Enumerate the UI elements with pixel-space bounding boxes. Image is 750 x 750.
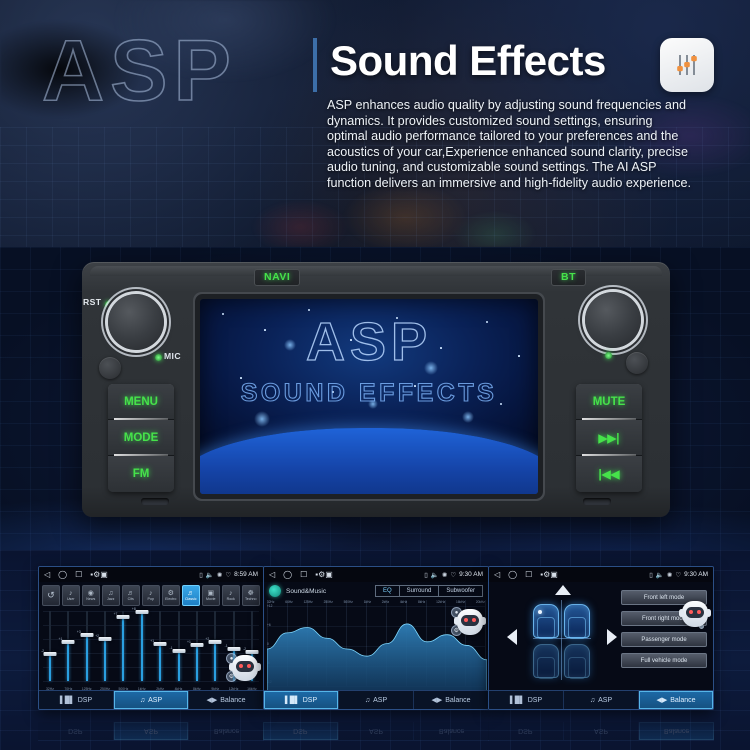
tab-label: ASP [148,697,162,704]
tab-dsp[interactable]: ▌█▌ DSP [264,691,339,709]
chart-x-tick-labels: 32Hz64Hz125Hz250Hz500Hz1kHz2kHz4kHz8kHz1… [267,600,485,604]
reflection-tab: DSP [38,722,114,740]
robot-ear-left [454,617,459,625]
left-small-button[interactable] [99,357,121,379]
robot-ear-right [256,663,261,671]
eq-band-32Hz[interactable]: -232Hz [43,609,57,693]
equalizer-sliders-icon [660,38,714,92]
eq-thumb[interactable] [80,633,93,637]
arrow-right-icon[interactable] [607,629,617,645]
eq-preset-movie[interactable]: ▣ Movie [202,585,221,606]
chart-x-tick: 12kHz [436,600,445,604]
eq-band-9kHz[interactable]: +29kHz [208,609,222,693]
eq-band-125Hz[interactable]: +3125Hz [80,609,94,693]
eq-band-250Hz[interactable]: +2250Hz [98,609,112,693]
eq-preset-news[interactable]: ◉ News [82,585,101,606]
seat-rear-left[interactable] [533,644,559,678]
balance-icon: ◀▶ [206,696,217,704]
eq-band-value: +2 [205,637,209,641]
reflection-tab: DSP [263,722,339,740]
panel-seat-modes[interactable]: ◁ ◯ ☐ ▪⚙▣ ▯ 🔈 ✺ ♡ 9:30 AM [488,566,714,710]
arrow-left-icon[interactable] [507,629,517,645]
reflection-tabs: DSP ASP Balance [38,722,264,741]
previous-track-button[interactable]: |◀◀ [576,456,642,492]
preset-icon: ♪ [229,590,233,597]
assistant-robot-icon[interactable] [682,601,708,627]
panel-equalizer[interactable]: ◁ ◯ ☐ ▪⚙▣ ▯ 🔈 ✺ ♡ 8:59 AM ↺ ♪ User ◉ New… [38,566,264,710]
chart-x-tick: 125Hz [304,600,313,604]
head-unit-screen[interactable]: ASP SOUND EFFECTS [200,299,538,494]
eq-preset-pop[interactable]: ♪ Pop [142,585,161,606]
bluetooth-icon: ✺ [217,571,222,579]
chart-x-tick: 250Hz [324,600,333,604]
eq-band-1kHz[interactable]: +81kHz [135,609,149,693]
tab-dsp[interactable]: ▌█▌ DSP [39,691,114,709]
eq-band-value: -1 [225,644,228,648]
right-led-icon [605,352,612,359]
ui-screenshot-strip: ◁ ◯ ☐ ▪⚙▣ ▯ 🔈 ✺ ♡ 8:59 AM ↺ ♪ User ◉ New… [0,550,750,750]
eq-preset-techno[interactable]: ☸ Techno [242,585,261,606]
next-track-button[interactable]: ▶▶| [576,420,642,456]
preset-icon: ♪ [69,590,73,597]
battery-icon: ▯ [424,571,428,579]
tab-balance[interactable]: ◀▶ Balance [639,691,713,709]
reflection-tab: ASP [114,722,190,740]
back-icon[interactable]: ◁ [494,571,500,579]
recents-icon[interactable]: ☐ [525,571,532,579]
preset-label: Jazz [107,598,114,602]
preset-icon: ♪ [149,590,153,597]
seat-front-right[interactable] [564,604,590,638]
tab-label: ASP [598,697,612,704]
segment-surround[interactable]: Surround [399,585,439,597]
right-small-button[interactable] [626,352,648,374]
volume-icon: 🔈 [206,571,214,579]
right-vent-slot [583,498,611,505]
eq-thumb[interactable] [190,643,203,647]
eq-band-4kHz[interactable]: -14kHz [172,609,186,693]
eq-fill [104,639,106,681]
panel-tab-bar[interactable]: ▌█▌ DSP ♫ ASP ◀▶ Balance [264,690,488,709]
reflection-tab: DSP [488,722,564,740]
right-button-stack: MUTE ▶▶| |◀◀ [576,384,642,492]
mode-full-vehicle[interactable]: Full vehicle mode [621,653,707,668]
segment-eq[interactable]: EQ [375,585,399,597]
asp-icon: ♫ [140,697,145,704]
panel-waveform[interactable]: ◁ ◯ ☐ ▪⚙▣ ▯ 🔈 ✺ ♡ 9:30 AM Sound&Music EQ… [263,566,489,710]
location-icon: ♡ [450,571,456,579]
eq-preset-cits[interactable]: ♬ Cits [122,585,141,606]
chart-x-tick: 16kHz [456,600,465,604]
android-status-bar: ◁ ◯ ☐ ▪⚙▣ ▯ 🔈 ✺ ♡ 9:30 AM [264,567,488,582]
dsp-icon: ▌█▌ [60,697,75,704]
rst-label: RST [83,297,101,307]
app-header: Sound&Music EQ Surround Subwoofer [264,582,488,600]
eq-band-value: +2 [95,634,99,638]
volume-icon: 🔈 [656,571,664,579]
eq-band-value: +3 [77,630,81,634]
focus-point-indicator [538,610,542,614]
eq-fill [141,612,143,681]
mode-passenger[interactable]: Passenger mode [621,632,707,647]
mic-label: MIC [164,351,181,361]
panel-tab-bar[interactable]: ▌█▌ DSP ♫ ASP ◀▶ Balance [39,690,263,709]
reflection-tab: ASP [339,722,415,740]
seat-rear-right[interactable] [564,644,590,678]
dsp-icon: ▌█▌ [285,697,300,704]
eq-band-value: -1 [170,646,173,650]
eq-preset-classic[interactable]: ♬ Classic [182,585,201,606]
page-title: Sound Effects [330,37,606,85]
battery-icon: ▯ [199,571,203,579]
eq-preset-rock[interactable]: ♪ Rock [222,585,241,606]
panel-equalizer-reflection: DSP ASP Balance [38,711,264,741]
page-description: ASP enhances audio quality by adjusting … [327,98,693,192]
eq-band-70Hz[interactable]: +170Hz [61,609,75,693]
eq-thumb[interactable] [154,642,167,646]
preset-icon: ▣ [207,590,214,597]
chart-x-tick: 1kHz [364,600,371,604]
eq-band-value: -2 [243,647,246,651]
eq-band-value: +1 [58,637,62,641]
reflection-tabs: DSP ASP Balance [488,722,714,741]
preset-label: User [67,598,75,602]
asp-icon: ♫ [365,697,370,704]
tab-asp[interactable]: ♫ ASP [339,691,414,709]
seat-axis-vertical [561,600,562,680]
status-time: 9:30 AM [684,571,708,578]
chart-x-tick: 500Hz [344,600,353,604]
eq-band-value: -2 [41,649,44,653]
menu-button[interactable]: MENU [108,384,174,420]
preset-label: Electro [165,598,176,602]
eq-thumb[interactable] [99,637,112,641]
preset-icon: ♬ [187,590,194,597]
mute-button[interactable]: MUTE [576,384,642,420]
fm-button[interactable]: FM [108,456,174,492]
tab-balance[interactable]: ◀▶ Balance [189,691,263,709]
panel-tab-bar[interactable]: ▌█▌ DSP ♫ ASP ◀▶ Balance [489,690,713,709]
eq-fill [86,635,88,681]
eq-thumb[interactable] [117,615,130,619]
preset-icon: ◉ [88,590,94,597]
eq-preset-jazz[interactable]: ♫ Jazz [102,585,121,606]
left-vent-slot [141,498,169,505]
chart-x-tick: 8kHz [418,600,425,604]
balance-icon: ◀▶ [656,696,667,704]
eq-thumb[interactable] [62,640,75,644]
bluetooth-icon: ✺ [667,571,672,579]
preset-label: Cits [128,598,134,602]
robot-ear-right [706,609,711,617]
eq-fill [49,654,51,681]
location-icon: ♡ [225,571,231,579]
segment-subwoofer[interactable]: Subwoofer [438,585,483,597]
android-status-bar: ◁ ◯ ☐ ▪⚙▣ ▯ 🔈 ✺ ♡ 8:59 AM [39,567,263,582]
car-head-unit: NAVI BT RST MIC MENU MODE FM MUTE ▶▶| |◀… [82,262,670,517]
bluetooth-icon: ✺ [442,571,447,579]
recents-icon[interactable]: ☐ [300,571,307,579]
eq-band-value: +7 [114,612,118,616]
screen-title: ASP [200,315,538,369]
eq-thumb[interactable] [135,610,148,614]
preset-label: News [86,598,95,602]
preset-icon: ☸ [248,590,254,597]
tab-label: Balance [445,697,470,704]
reflection-tabs: DSP ASP Balance [263,722,489,741]
asp-watermark: ASP [42,28,237,114]
hero-banner: ASP Sound Effects ASP enhances audio qua… [0,0,750,247]
panel-seat-modes-reflection: DSP ASP Balance [488,711,714,741]
eq-band-500Hz[interactable]: +7500Hz [116,609,130,693]
eq-preset-user[interactable]: ♪ User [62,585,81,606]
mode-label: Front left mode [644,595,684,601]
eq-thumb[interactable] [209,640,222,644]
preset-icon: ⚙ [168,590,174,597]
eq-fill [122,617,124,681]
robot-ear-left [229,663,234,671]
tab-dsp[interactable]: ▌█▌ DSP [489,691,564,709]
home-icon[interactable]: ◯ [508,571,517,579]
eq-thumb[interactable] [227,647,240,651]
tab-label: DSP [528,697,542,704]
assistant-robot-icon[interactable] [232,655,258,681]
eq-fill [67,642,69,681]
preset-label: Techno [245,598,257,602]
eq-band-value: +8 [132,607,136,611]
app-name: Sound&Music [286,588,326,595]
tab-label: Balance [670,697,695,704]
tab-label: DSP [303,697,317,704]
bt-badge[interactable]: BT [551,269,586,286]
eq-band-2kHz[interactable]: +12kHz [153,609,167,693]
screen-subtitle: SOUND EFFECTS [200,381,538,406]
robot-ear-left [679,609,684,617]
tab-label: DSP [78,697,92,704]
eq-fill [159,644,161,681]
location-icon: ♡ [675,571,681,579]
chart-x-tick: 4kHz [400,600,407,604]
back-icon[interactable]: ◁ [269,571,275,579]
preset-label: Movie [206,598,216,602]
eq-preset-electro[interactable]: ⚙ Electro [162,585,181,606]
eq-preset-row[interactable]: ↺ ♪ User ◉ News ♫ Jazz ♬ Cits ♪ Pop [39,582,263,606]
tab-asp[interactable]: ♫ ASP [564,691,639,709]
preset-label: Pop [148,598,154,602]
eq-fill [178,651,180,681]
chart-x-tick: 20kHz [476,600,485,604]
battery-icon: ▯ [649,571,653,579]
preset-icon: ♬ [127,590,134,597]
eq-band-columns[interactable]: -232Hz+170Hz+3125Hz+2250Hz+7500Hz+81kHz+… [43,609,259,693]
apps-icon[interactable]: ▪⚙▣ [540,571,558,579]
volume-knob-left[interactable] [108,294,164,350]
assistant-robot-icon[interactable] [457,609,483,635]
eq-thumb[interactable] [172,649,185,653]
tune-knob-right[interactable] [585,292,641,348]
app-logo-icon [269,585,281,597]
eq-cycle-button[interactable]: ↺ [42,585,60,606]
screen-wave-front [200,428,538,494]
home-icon[interactable]: ◯ [58,571,67,579]
eq-band-value: +1 [187,640,191,644]
apps-icon[interactable]: ▪⚙▣ [315,571,333,579]
robot-ear-right [481,617,486,625]
mode-label: Full vehicle mode [641,658,688,664]
tab-asp[interactable]: ♫ ASP [114,691,189,709]
seat-front-left[interactable] [533,604,559,638]
panel-waveform-reflection: DSP ASP Balance [263,711,489,741]
mode-label: Passenger mode [641,637,686,643]
arrow-up-icon[interactable] [555,585,571,595]
eq-thumb[interactable] [44,652,57,656]
product-scene: NAVI BT RST MIC MENU MODE FM MUTE ▶▶| |◀… [0,247,750,550]
apps-icon[interactable]: ▪⚙▣ [90,571,108,579]
preset-icon: ♫ [108,590,113,597]
reflection-tab: Balance [639,722,714,740]
volume-icon: 🔈 [431,571,439,579]
mode-button[interactable]: MODE [108,420,174,456]
navi-badge[interactable]: NAVI [254,269,300,286]
recents-icon[interactable]: ☐ [75,571,82,579]
chart-x-tick: 64Hz [285,600,292,604]
reflection-tab: ASP [564,722,640,740]
mic-led-icon [155,354,162,361]
tab-label: Balance [220,697,245,704]
chart-x-tick: 2kHz [382,600,389,604]
eq-band-value: +1 [150,639,154,643]
eq-fill [196,645,198,681]
balance-icon: ◀▶ [431,696,442,704]
seat-selector[interactable]: Front left mode Front right mode Passeng… [489,582,713,692]
sound-mode-segments[interactable]: EQ Surround Subwoofer [375,585,483,597]
reflection-tab: Balance [189,722,264,740]
reflection-tab: Balance [414,722,489,740]
back-icon[interactable]: ◁ [44,571,50,579]
android-status-bar: ◁ ◯ ☐ ▪⚙▣ ▯ 🔈 ✺ ♡ 9:30 AM [489,567,713,582]
eq-thumb[interactable] [245,650,258,654]
tab-balance[interactable]: ◀▶ Balance [414,691,488,709]
home-icon[interactable]: ◯ [283,571,292,579]
eq-fill [214,642,216,681]
preset-label: Rock [227,598,235,602]
title-divider [313,38,317,92]
eq-band-8kHz[interactable]: +18kHz [190,609,204,693]
asp-icon: ♫ [590,697,595,704]
status-time: 9:30 AM [459,571,483,578]
left-button-stack: MENU MODE FM [108,384,174,492]
preset-label: Classic [185,598,197,602]
dsp-icon: ▌█▌ [510,697,525,704]
tab-label: ASP [373,697,387,704]
status-time: 8:59 AM [234,571,258,578]
